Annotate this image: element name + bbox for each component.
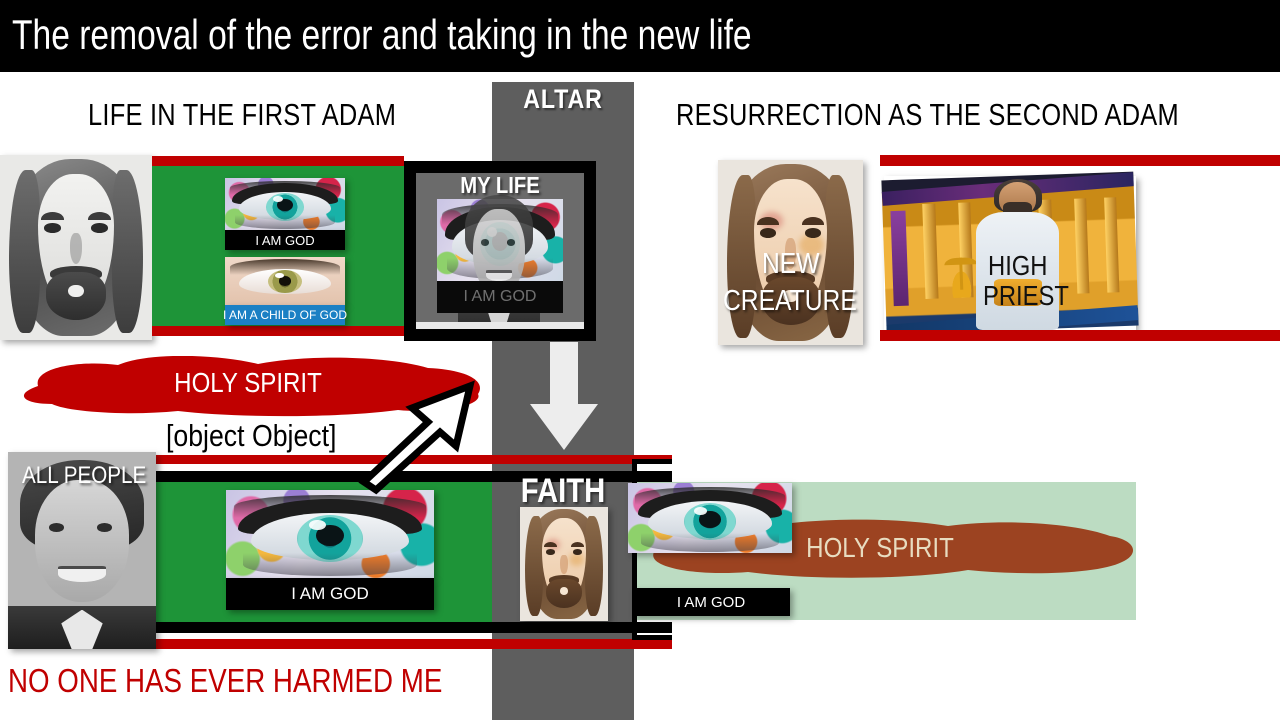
bottom-left-black-rule-lower: [152, 622, 672, 633]
label-high-priest-line1: HIGH: [988, 250, 1048, 282]
heading-first-adam: LIFE IN THE FIRST ADAM: [88, 97, 396, 133]
arrow-down-icon: [524, 342, 604, 452]
slide-title: The removal of the error and taking in t…: [12, 6, 752, 64]
natural-eye-image: [225, 257, 345, 305]
jesus-color-portrait-faith: [520, 507, 608, 621]
footnote-no-one-harmed-me: NO ONE HAS EVER HARMED ME: [8, 662, 442, 700]
caption-i-am-god-bottom-right: I AM GOD: [632, 588, 790, 616]
top-right-red-rule-upper: [880, 155, 1280, 166]
mosaic-eye-image-top: [225, 178, 345, 230]
bottom-left-red-rule-lower: [152, 639, 672, 649]
label-forgiveness: [object Object]: [166, 418, 336, 454]
top-left-red-rule-upper: [152, 156, 404, 166]
heading-altar: ALTAR: [502, 84, 624, 115]
heading-second-adam: RESURRECTION AS THE SECOND ADAM: [676, 97, 1179, 133]
jesus-grayscale-portrait: [0, 155, 152, 340]
my-life-title: MY LIFE: [416, 172, 585, 199]
caption-i-am-god-top: I AM GOD: [225, 230, 345, 250]
title-bar: The removal of the error and taking in t…: [0, 0, 1280, 72]
label-high-priest-line2: PRIEST: [983, 280, 1069, 312]
label-all-people: ALL PEOPLE: [22, 462, 146, 490]
label-faith: FAITH: [502, 472, 624, 511]
caption-i-am-a-child-of-god: I AM A CHILD OF GOD: [225, 305, 345, 325]
top-left-red-rule-lower: [152, 326, 404, 336]
top-right-red-rule-lower: [880, 330, 1280, 341]
caption-i-am-god-bottom-left: I AM GOD: [226, 578, 434, 610]
mosaic-eye-image-bottom-left: [226, 490, 434, 578]
label-new-creature-line2: CREATURE: [723, 285, 857, 318]
arrow-up-right-icon: [350, 378, 480, 488]
slide-canvas: The removal of the error and taking in t…: [0, 0, 1280, 720]
my-life-caption-i-am-god: I AM GOD: [437, 281, 563, 313]
label-new-creature-line1: NEW: [762, 248, 820, 281]
mosaic-eye-image-bottom-right: [628, 483, 792, 553]
my-life-base-bar: [416, 322, 584, 329]
